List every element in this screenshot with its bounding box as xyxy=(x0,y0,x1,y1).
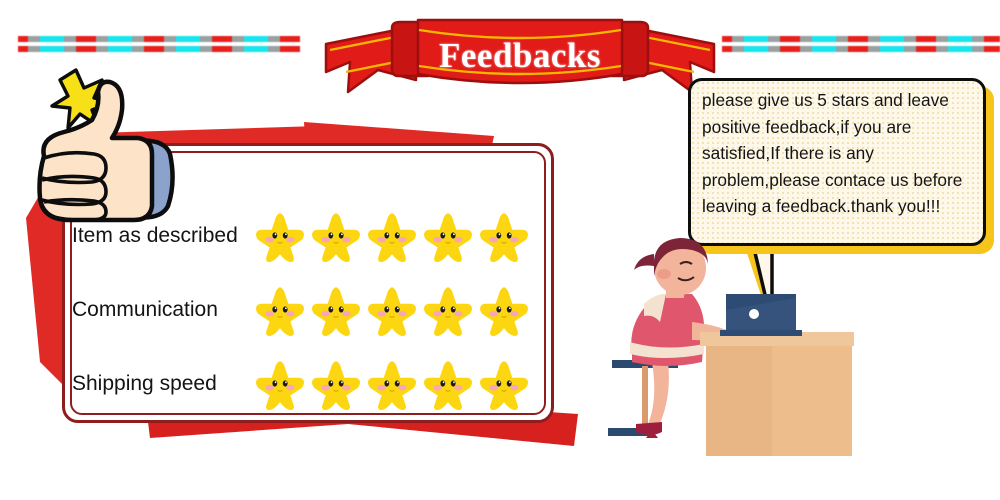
star-icon xyxy=(478,210,530,262)
star-rating-shipping-speed xyxy=(254,358,530,410)
rail-line-top xyxy=(722,36,1000,42)
woman-at-desk-svg xyxy=(596,232,856,460)
bubble-text-line: satisfied,If there is any xyxy=(702,140,978,167)
star-rating-item-as-described xyxy=(254,210,530,262)
shoe xyxy=(636,422,662,435)
rating-label: Communication xyxy=(72,298,254,322)
star-icon xyxy=(310,210,362,262)
bubble-text-line: leaving a feedback.thank you!!! xyxy=(702,193,978,220)
rail-line-top xyxy=(18,36,300,42)
star-icon xyxy=(366,284,418,336)
hair-bun xyxy=(634,254,654,270)
decorative-rail-left xyxy=(18,34,300,56)
star-icon xyxy=(254,284,306,336)
star-icon xyxy=(310,358,362,410)
bubble-text-line: problem,please contace us before xyxy=(702,167,978,194)
star-icon xyxy=(422,358,474,410)
rating-row-communication: Communication xyxy=(72,284,542,336)
rail-line-bottom xyxy=(722,46,1000,52)
decorative-rail-right xyxy=(722,34,1000,56)
star-icon xyxy=(254,210,306,262)
woman-at-desk-illustration xyxy=(596,232,856,460)
thumbs-up-icon xyxy=(14,58,194,243)
laptop-base xyxy=(720,330,802,336)
star-icon xyxy=(310,284,362,336)
bubble-text-line: please give us 5 stars and leave xyxy=(702,87,978,114)
star-icon xyxy=(422,284,474,336)
ribbon-banner: Feedbacks xyxy=(320,6,720,98)
star-icon xyxy=(422,210,474,262)
laptop-logo xyxy=(749,309,759,319)
star-icon xyxy=(366,358,418,410)
feedback-banner-page: Feedbacks Item as described Communicatio… xyxy=(0,0,1000,500)
rail-line-bottom xyxy=(18,46,300,52)
cheek xyxy=(657,269,671,279)
bubble-message-text: please give us 5 stars and leavepositive… xyxy=(702,87,978,220)
leg xyxy=(648,362,669,428)
desk-panel xyxy=(772,346,852,456)
rating-label: Shipping speed xyxy=(72,372,254,396)
star-rating-communication xyxy=(254,284,530,336)
star-icon xyxy=(478,284,530,336)
page-title: Feedbacks xyxy=(320,6,720,98)
thumbs-up-svg xyxy=(14,58,194,243)
star-icon xyxy=(478,358,530,410)
star-icon xyxy=(366,210,418,262)
bubble-text-line: positive feedback,if you are xyxy=(702,114,978,141)
star-icon xyxy=(254,358,306,410)
rating-row-shipping-speed: Shipping speed xyxy=(72,358,542,410)
